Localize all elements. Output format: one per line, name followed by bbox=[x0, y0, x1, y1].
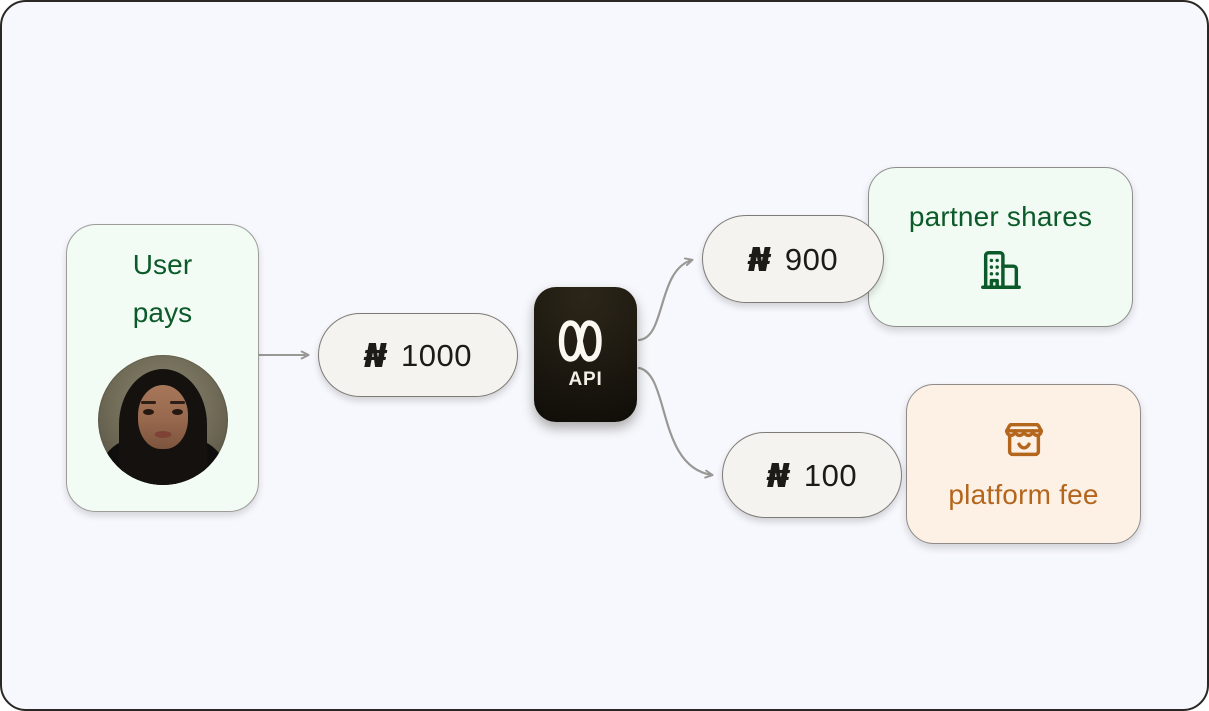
user-pays-card[interactable]: User pays bbox=[66, 224, 259, 512]
api-node-label: API bbox=[568, 369, 602, 391]
avatar-face bbox=[138, 385, 188, 449]
amount-total-value: 1000 bbox=[401, 340, 472, 371]
amount-fee-value: 100 bbox=[804, 460, 857, 491]
amount-chip-partner[interactable]: ₦ 900 bbox=[702, 215, 884, 303]
partner-shares-label: partner shares bbox=[909, 201, 1092, 233]
avatar-eye-right bbox=[172, 409, 183, 415]
avatar bbox=[98, 355, 228, 485]
edge-api-to-partner-amount bbox=[639, 260, 692, 340]
naira-icon: ₦ bbox=[364, 339, 387, 372]
naira-icon: ₦ bbox=[767, 459, 790, 492]
edge-api-to-fee-amount bbox=[639, 368, 712, 475]
building-icon bbox=[978, 247, 1024, 293]
storefront-icon bbox=[1001, 417, 1047, 463]
platform-fee-card[interactable]: platform fee bbox=[906, 384, 1141, 544]
avatar-brow-left bbox=[141, 401, 156, 404]
user-pays-label-line1: User bbox=[133, 251, 193, 279]
amount-chip-fee[interactable]: ₦ 100 bbox=[722, 432, 902, 518]
platform-fee-label: platform fee bbox=[948, 479, 1098, 511]
avatar-brow-right bbox=[170, 401, 185, 404]
amount-partner-value: 900 bbox=[785, 244, 838, 275]
api-node[interactable]: API bbox=[534, 287, 637, 422]
infinity-ribbon-logo-icon bbox=[558, 319, 614, 363]
diagram-canvas: User pays ₦ 1000 API ₦ 900 ₦ 100 bbox=[0, 0, 1209, 711]
naira-icon: ₦ bbox=[748, 243, 771, 276]
avatar-lips bbox=[154, 431, 171, 438]
partner-shares-card[interactable]: partner shares bbox=[868, 167, 1133, 327]
avatar-eye-left bbox=[143, 409, 154, 415]
user-pays-label-line2: pays bbox=[133, 299, 193, 327]
amount-chip-total[interactable]: ₦ 1000 bbox=[318, 313, 518, 397]
